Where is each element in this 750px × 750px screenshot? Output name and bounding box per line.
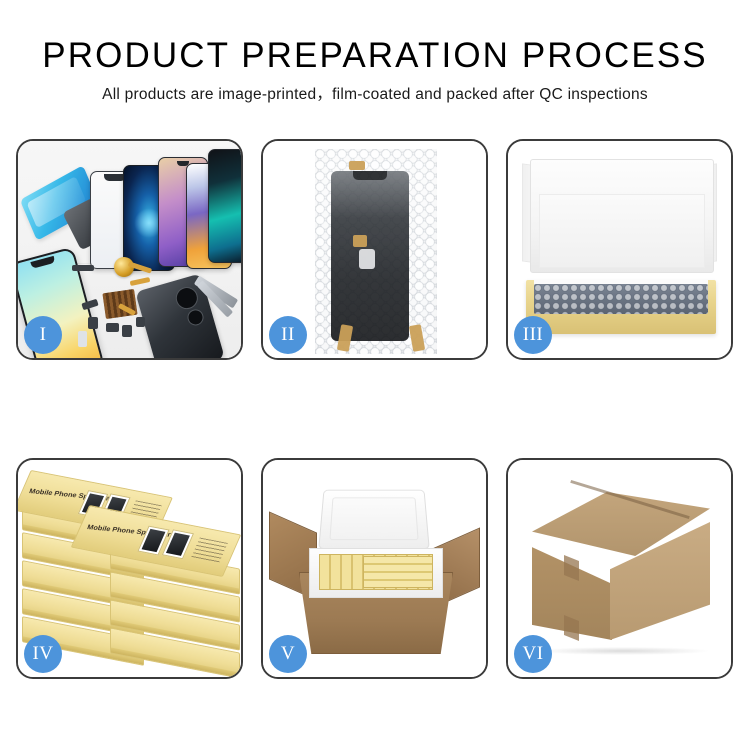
process-step-6: VI	[506, 458, 733, 679]
small-part-icon	[122, 325, 132, 337]
bubble-wrapped-contents-icon	[534, 284, 708, 314]
process-step-3: III	[506, 139, 733, 360]
step-badge-2: II	[269, 316, 307, 354]
step-badge-4: IV	[24, 635, 62, 673]
process-step-5: V	[261, 458, 488, 679]
small-part-icon	[78, 331, 87, 347]
process-step-2: II	[261, 139, 488, 360]
yellow-box-base-icon	[526, 280, 716, 334]
process-step-4: Mobile Phone Spare Parts Mobile Phone Sp…	[16, 458, 243, 679]
camera-lens-icon	[173, 284, 200, 311]
small-part-icon	[136, 317, 145, 327]
phone-notch-icon	[353, 171, 387, 180]
step-badge-5: V	[269, 635, 307, 673]
process-steps-grid: I II	[16, 139, 734, 679]
tape-icon	[353, 235, 367, 247]
box-spec-text	[191, 538, 228, 565]
page-title: PRODUCT PREPARATION PROCESS	[0, 36, 750, 76]
product-preparation-process-page: PRODUCT PREPARATION PROCESS All products…	[0, 0, 750, 750]
camera-lens-small-icon	[186, 308, 206, 328]
process-step-1: I	[16, 139, 243, 360]
yellow-boxes-row-icon	[363, 556, 433, 588]
small-part-icon	[72, 265, 94, 271]
step-badge-6: VI	[514, 635, 552, 673]
step-badge-3: III	[514, 316, 552, 354]
tape-icon	[349, 161, 365, 170]
phone-display-teal-icon	[208, 149, 241, 263]
tape-icon	[409, 324, 425, 352]
foam-lid-icon	[318, 490, 430, 549]
page-header: PRODUCT PREPARATION PROCESS All products…	[0, 36, 750, 105]
step-badge-1: I	[24, 316, 62, 354]
connector-icon	[359, 249, 375, 269]
small-part-icon	[106, 323, 119, 332]
foam-lid-icon	[530, 159, 714, 273]
bubble-wrap-bag-icon	[315, 149, 437, 354]
page-subtitle: All products are image-printed，film-coat…	[0, 85, 750, 105]
small-part-icon	[88, 317, 98, 329]
carton-shadow	[538, 647, 708, 655]
